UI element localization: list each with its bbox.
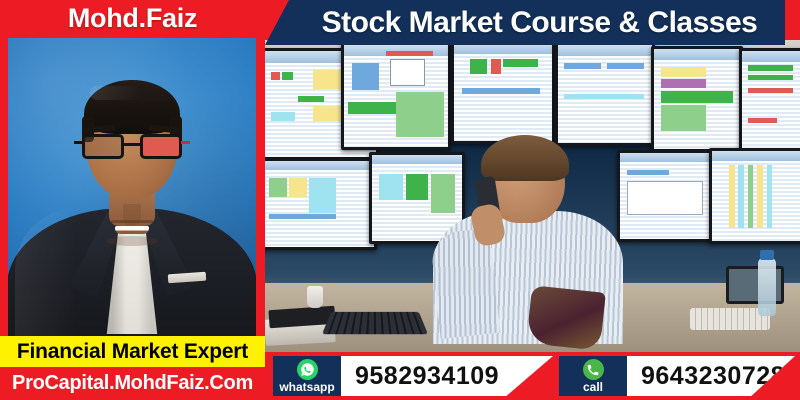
screen-rows — [712, 161, 800, 241]
screen-header — [620, 153, 710, 162]
profile-panel: Mohd.Faiz — [0, 0, 265, 400]
lens-left — [82, 134, 124, 159]
headline-banner: Stock Market Course & Classes — [265, 0, 800, 45]
trader-person — [433, 139, 623, 344]
screen-block — [748, 118, 776, 123]
screen-block — [298, 96, 325, 102]
bottle-cap — [760, 250, 774, 260]
screen-block — [269, 178, 287, 197]
lens-right — [140, 134, 182, 159]
screen-header — [265, 161, 374, 170]
monitor-screen — [454, 43, 552, 141]
screen-header — [654, 49, 740, 60]
screen-block — [748, 88, 793, 93]
screen-header — [742, 51, 800, 62]
screen-block — [282, 72, 293, 79]
screen-header — [558, 45, 652, 56]
screen-block — [661, 79, 706, 88]
promo-banner: Mohd.Faiz — [0, 0, 800, 400]
monitor — [341, 42, 451, 150]
screen-block — [627, 181, 703, 215]
screen-block — [661, 67, 706, 77]
screen-block — [379, 174, 402, 200]
whatsapp-number[interactable]: 9582934109 — [341, 356, 553, 396]
keyboard — [322, 312, 428, 334]
screen-block — [503, 59, 538, 67]
screen-block — [748, 65, 793, 71]
upper-lip-line — [111, 220, 153, 223]
screen-block — [757, 165, 763, 228]
monitor — [617, 150, 713, 242]
screen-block — [470, 59, 488, 75]
screen-block — [661, 105, 706, 131]
headline-text: Stock Market Course & Classes — [265, 0, 800, 45]
screen-block — [309, 178, 336, 212]
screen-block — [564, 63, 602, 69]
content-panel: Stock Market Course & Classes — [265, 0, 800, 400]
portrait-photo — [8, 38, 256, 336]
screen-rows — [558, 56, 652, 143]
monitor — [265, 158, 377, 250]
call-number[interactable]: 9643230728 — [627, 356, 795, 396]
call-label: call — [583, 381, 603, 393]
monitor-screen — [712, 151, 800, 241]
whatsapp-icon — [297, 359, 318, 380]
call-badge[interactable]: call — [559, 356, 627, 396]
person-figure — [8, 38, 256, 336]
screen-block — [386, 51, 434, 56]
water-bottle — [758, 258, 776, 316]
monitor-screen — [558, 45, 652, 143]
monitor — [651, 46, 743, 152]
monitor-screen — [620, 153, 710, 239]
monitor — [709, 148, 800, 244]
screen-block — [767, 165, 773, 228]
trading-floor-photo — [265, 40, 800, 352]
glasses-temple-right — [181, 141, 190, 144]
glasses-temple-left — [74, 141, 83, 144]
monitor — [555, 42, 655, 146]
whatsapp-label: whatsapp — [279, 381, 334, 393]
monitor — [739, 48, 800, 152]
screen-block — [406, 174, 428, 200]
glasses-bridge — [124, 143, 140, 146]
page-title: Mohd.Faiz — [0, 0, 265, 36]
call-contact[interactable]: 9643230728 call — [559, 356, 795, 396]
suit-highlight — [15, 208, 77, 336]
screen-block — [396, 92, 444, 137]
screen-block — [627, 170, 668, 175]
coffee-cup — [307, 286, 323, 308]
whatsapp-badge[interactable]: whatsapp — [273, 356, 341, 396]
screen-block — [271, 112, 296, 120]
screen-block — [748, 75, 793, 81]
monitor-screen — [742, 51, 800, 149]
screen-block — [352, 63, 379, 90]
screen-block — [269, 214, 336, 219]
monitor-screen — [654, 49, 740, 149]
website-url[interactable]: ProCapital.MohdFaiz.Com — [0, 367, 265, 400]
screen-header — [712, 151, 800, 161]
screen-block — [661, 91, 733, 103]
eyeglasses-icon — [80, 134, 184, 160]
screen-block — [390, 59, 425, 86]
mouth — [115, 226, 149, 234]
screen-block — [462, 88, 540, 94]
screen-block — [748, 165, 754, 228]
phone-icon — [583, 359, 604, 380]
monitor — [451, 40, 555, 144]
screen-block — [491, 59, 501, 75]
chin-shadow — [106, 236, 158, 246]
trader-hair — [481, 135, 569, 181]
monitor-screen — [265, 161, 374, 247]
screen-block — [564, 94, 645, 99]
screen-block — [271, 72, 280, 79]
expert-tagline: Financial Market Expert — [0, 336, 265, 367]
screen-block — [738, 165, 744, 228]
screen-block — [729, 165, 735, 228]
contact-bar: 9582934109 whatsapp 9643230728 — [265, 352, 800, 400]
screen-block — [289, 178, 307, 197]
whatsapp-contact[interactable]: 9582934109 whatsapp — [273, 356, 553, 396]
monitor-screen — [344, 45, 448, 147]
screen-block — [607, 63, 645, 69]
